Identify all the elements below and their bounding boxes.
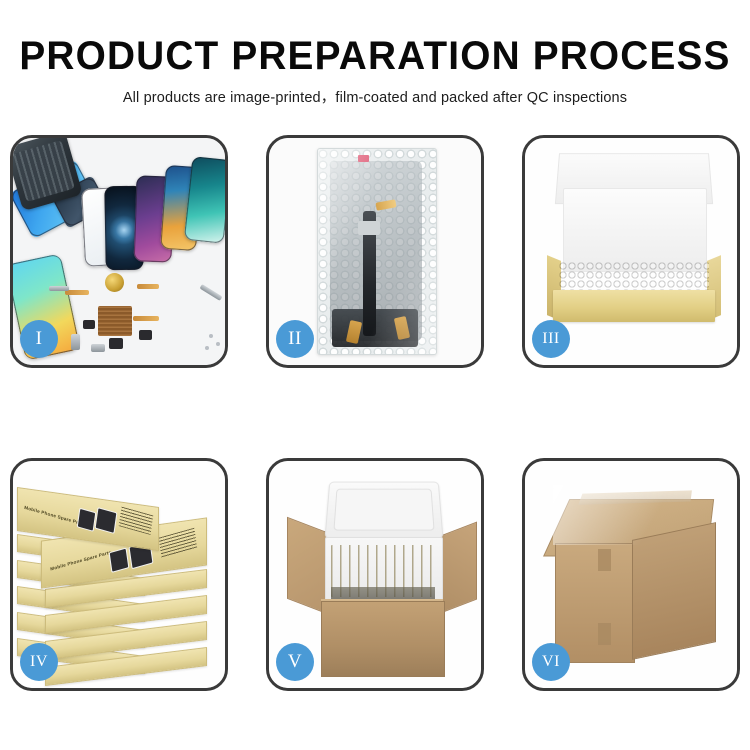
screw-icon bbox=[209, 334, 213, 338]
connector-icon bbox=[91, 344, 105, 352]
carton-seam-icon bbox=[598, 549, 611, 571]
page-subtitle: All products are image-printed，film-coat… bbox=[0, 77, 750, 107]
carton-seam-icon bbox=[598, 623, 611, 645]
process-step-1-panel: I bbox=[10, 135, 228, 368]
page-header: PRODUCT PREPARATION PROCESS All products… bbox=[0, 0, 750, 107]
page-title: PRODUCT PREPARATION PROCESS bbox=[11, 0, 739, 77]
pink-qc-label-icon bbox=[358, 155, 369, 162]
step-badge-4: IV bbox=[20, 643, 58, 681]
process-step-3-panel: III bbox=[522, 135, 740, 368]
box-label-text: Mobile Phone Spare Parts bbox=[50, 550, 112, 572]
connector-icon bbox=[71, 334, 80, 350]
bubble-wrap-bag-icon bbox=[317, 148, 437, 355]
step-badge-6: VI bbox=[532, 643, 570, 681]
phone-graphic-icon bbox=[77, 508, 97, 532]
chip-icon bbox=[139, 330, 152, 340]
screw-icon bbox=[216, 342, 220, 346]
step-badge-5: V bbox=[276, 643, 314, 681]
box-front-panel-icon bbox=[553, 290, 715, 322]
flex-cable-icon bbox=[65, 290, 89, 295]
speaker-coil-icon bbox=[105, 273, 124, 292]
white-foam-sheet-icon bbox=[563, 188, 707, 272]
antenna-strip-icon bbox=[49, 286, 69, 291]
foam-lid-rim bbox=[333, 489, 434, 531]
carton-right-face-icon bbox=[632, 522, 716, 660]
chip-icon bbox=[83, 320, 95, 329]
carton-left-face-icon bbox=[555, 543, 635, 663]
process-step-2-panel: II bbox=[266, 135, 484, 368]
process-step-6-panel: VI bbox=[522, 458, 740, 691]
step-badge-3: III bbox=[532, 320, 570, 358]
internal-components-icon bbox=[13, 140, 75, 202]
foam-lid-icon bbox=[324, 482, 443, 539]
copper-mesh-icon bbox=[98, 306, 132, 336]
step-badge-1: I bbox=[20, 320, 58, 358]
box-spec-lines bbox=[159, 528, 198, 559]
screw-icon bbox=[205, 346, 209, 350]
chip-icon bbox=[109, 338, 123, 349]
connector-icon bbox=[358, 221, 380, 235]
flex-cable-icon bbox=[137, 284, 159, 289]
phone-graphic-icon bbox=[95, 507, 118, 534]
box-spec-lines bbox=[119, 507, 153, 535]
phone-graphic-icon bbox=[109, 548, 130, 573]
flex-cable-icon bbox=[133, 316, 159, 321]
process-step-grid: I II bbox=[10, 135, 740, 691]
step-badge-2: II bbox=[276, 320, 314, 358]
process-step-5-panel: V bbox=[266, 458, 484, 691]
carton-front-panel-icon bbox=[321, 601, 445, 677]
process-step-4-panel: Mobile Phone Spare Parts Mobile Phone Sp… bbox=[10, 458, 228, 691]
